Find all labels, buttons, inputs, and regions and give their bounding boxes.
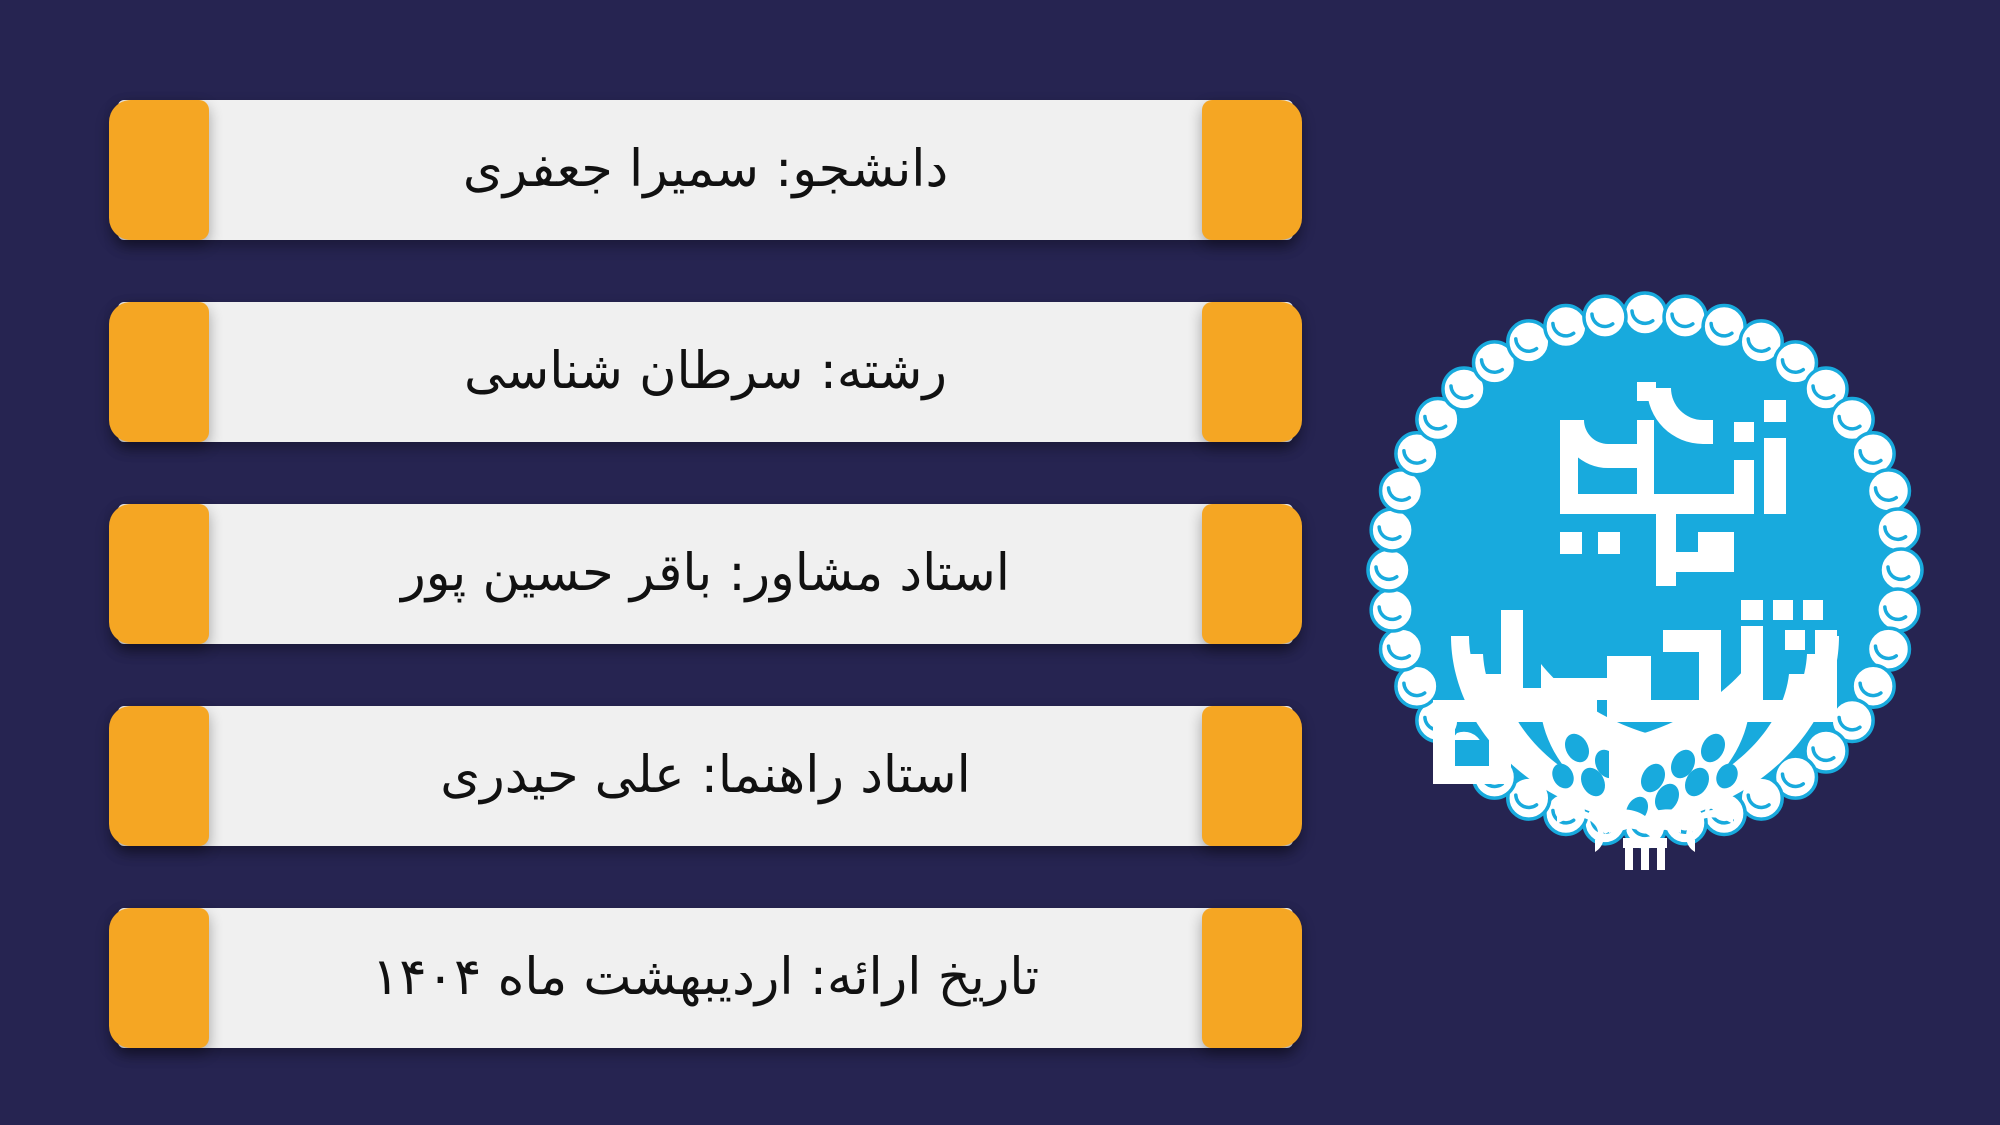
accent-cap-right [1202, 504, 1302, 644]
university-of-tehran-seal-icon [1345, 270, 1945, 870]
info-row-date: تاریخ ارائه: اردیبهشت ماه ۱۴۰۴ [118, 908, 1293, 1048]
info-bar-list: دانشجو: سمیرا جعفری رشته: سرطان شناسی اس… [118, 100, 1293, 1048]
accent-cap-left [109, 706, 209, 846]
info-row-label: تاریخ ارائه: اردیبهشت ماه ۱۴۰۴ [252, 949, 1159, 1008]
info-row-label: رشته: سرطان شناسی [344, 343, 1067, 402]
accent-cap-left [109, 302, 209, 442]
info-row-student: دانشجو: سمیرا جعفری [118, 100, 1293, 240]
info-row-label: استاد راهنما: علی حیدری [320, 747, 1091, 806]
accent-cap-right [1202, 908, 1302, 1048]
info-row-label: استاد مشاور: باقر حسین پور [281, 545, 1130, 604]
university-logo [1345, 270, 1945, 870]
accent-cap-right [1202, 302, 1302, 442]
accent-cap-right [1202, 706, 1302, 846]
accent-cap-right [1202, 100, 1302, 240]
accent-cap-left [109, 908, 209, 1048]
info-row-label: دانشجو: سمیرا جعفری [343, 141, 1068, 200]
accent-cap-left [109, 100, 209, 240]
presentation-slide: دانشجو: سمیرا جعفری رشته: سرطان شناسی اس… [0, 0, 2000, 1125]
accent-cap-left [109, 504, 209, 644]
info-row-field: رشته: سرطان شناسی [118, 302, 1293, 442]
info-row-supervisor: استاد راهنما: علی حیدری [118, 706, 1293, 846]
info-row-advisor: استاد مشاور: باقر حسین پور [118, 504, 1293, 644]
